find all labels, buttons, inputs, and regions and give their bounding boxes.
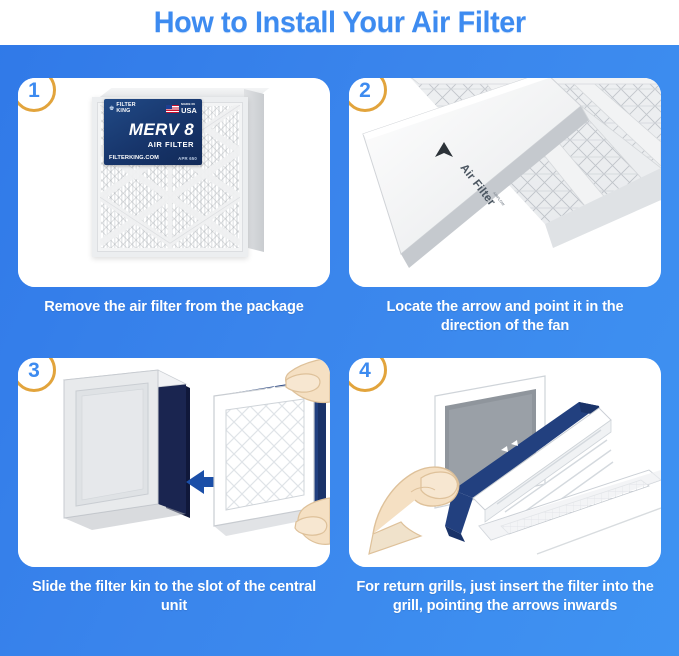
header-band: How to Install Your Air Filter <box>0 0 679 45</box>
step-1-image-card: ♚ FILTER KING MADE IN USA <box>18 78 330 287</box>
apr-rating: APR 650 <box>178 156 197 161</box>
step-4-image-card: 4 <box>349 358 661 567</box>
step-caption-4: For return grills, just insert the filte… <box>349 578 661 617</box>
filter-into-return-grill-illustration <box>349 358 661 567</box>
step-3-image-card: 3 <box>18 358 330 567</box>
country-text: USA <box>181 107 197 114</box>
brand-name: FILTER KING <box>116 103 135 114</box>
step-caption-2: Locate the arrow and point it in the dir… <box>349 298 661 337</box>
product-subtitle: AIR FILTER <box>109 140 197 149</box>
filter-corner-photo <box>349 78 661 287</box>
brand-line-2: KING <box>116 108 130 114</box>
air-filter-product: ♚ FILTER KING MADE IN USA <box>92 89 264 257</box>
merv-rating: MERV 8 <box>109 121 197 138</box>
step-caption-1: Remove the air filter from the package <box>18 298 330 317</box>
central-unit <box>64 370 190 530</box>
hand-holding-filter <box>369 467 459 554</box>
label-top-row: ♚ FILTER KING MADE IN USA <box>109 103 197 114</box>
made-in-usa-badge: MADE IN USA <box>166 103 197 114</box>
air-filter-edge-arrow-photo: Air Filter AIRFLOW <box>349 78 661 287</box>
made-in-usa-text: MADE IN USA <box>181 103 197 114</box>
step-card-1: ♚ FILTER KING MADE IN USA <box>18 78 330 317</box>
merv-8-air-filter-product-photo: ♚ FILTER KING MADE IN USA <box>18 78 330 287</box>
usa-flag-icon <box>166 105 179 113</box>
website-text: FILTERKING.COM <box>109 155 159 161</box>
label-bottom-row: FILTERKING.COM APR 650 <box>109 155 197 161</box>
product-label: ♚ FILTER KING MADE IN USA <box>104 99 202 165</box>
step-card-3: 3 Slide the filter kin to the slot of th… <box>18 358 330 617</box>
filter-king-logo: ♚ FILTER KING <box>109 103 136 114</box>
step-2-image-card: Air Filter AIRFLOW 2 <box>349 78 661 287</box>
step-card-2: Air Filter AIRFLOW 2 Locate the arrow an… <box>349 78 661 337</box>
airflow-arrow-icon <box>433 141 455 161</box>
step-caption-3: Slide the filter kin to the slot of the … <box>18 578 330 617</box>
filter-into-central-unit-illustration <box>18 358 330 567</box>
page-title: How to Install Your Air Filter <box>153 6 525 40</box>
crown-icon: ♚ <box>109 106 114 112</box>
steps-grid: ♚ FILTER KING MADE IN USA <box>0 45 679 656</box>
step-card-4: 4 For return grills, just insert the fil… <box>349 358 661 617</box>
